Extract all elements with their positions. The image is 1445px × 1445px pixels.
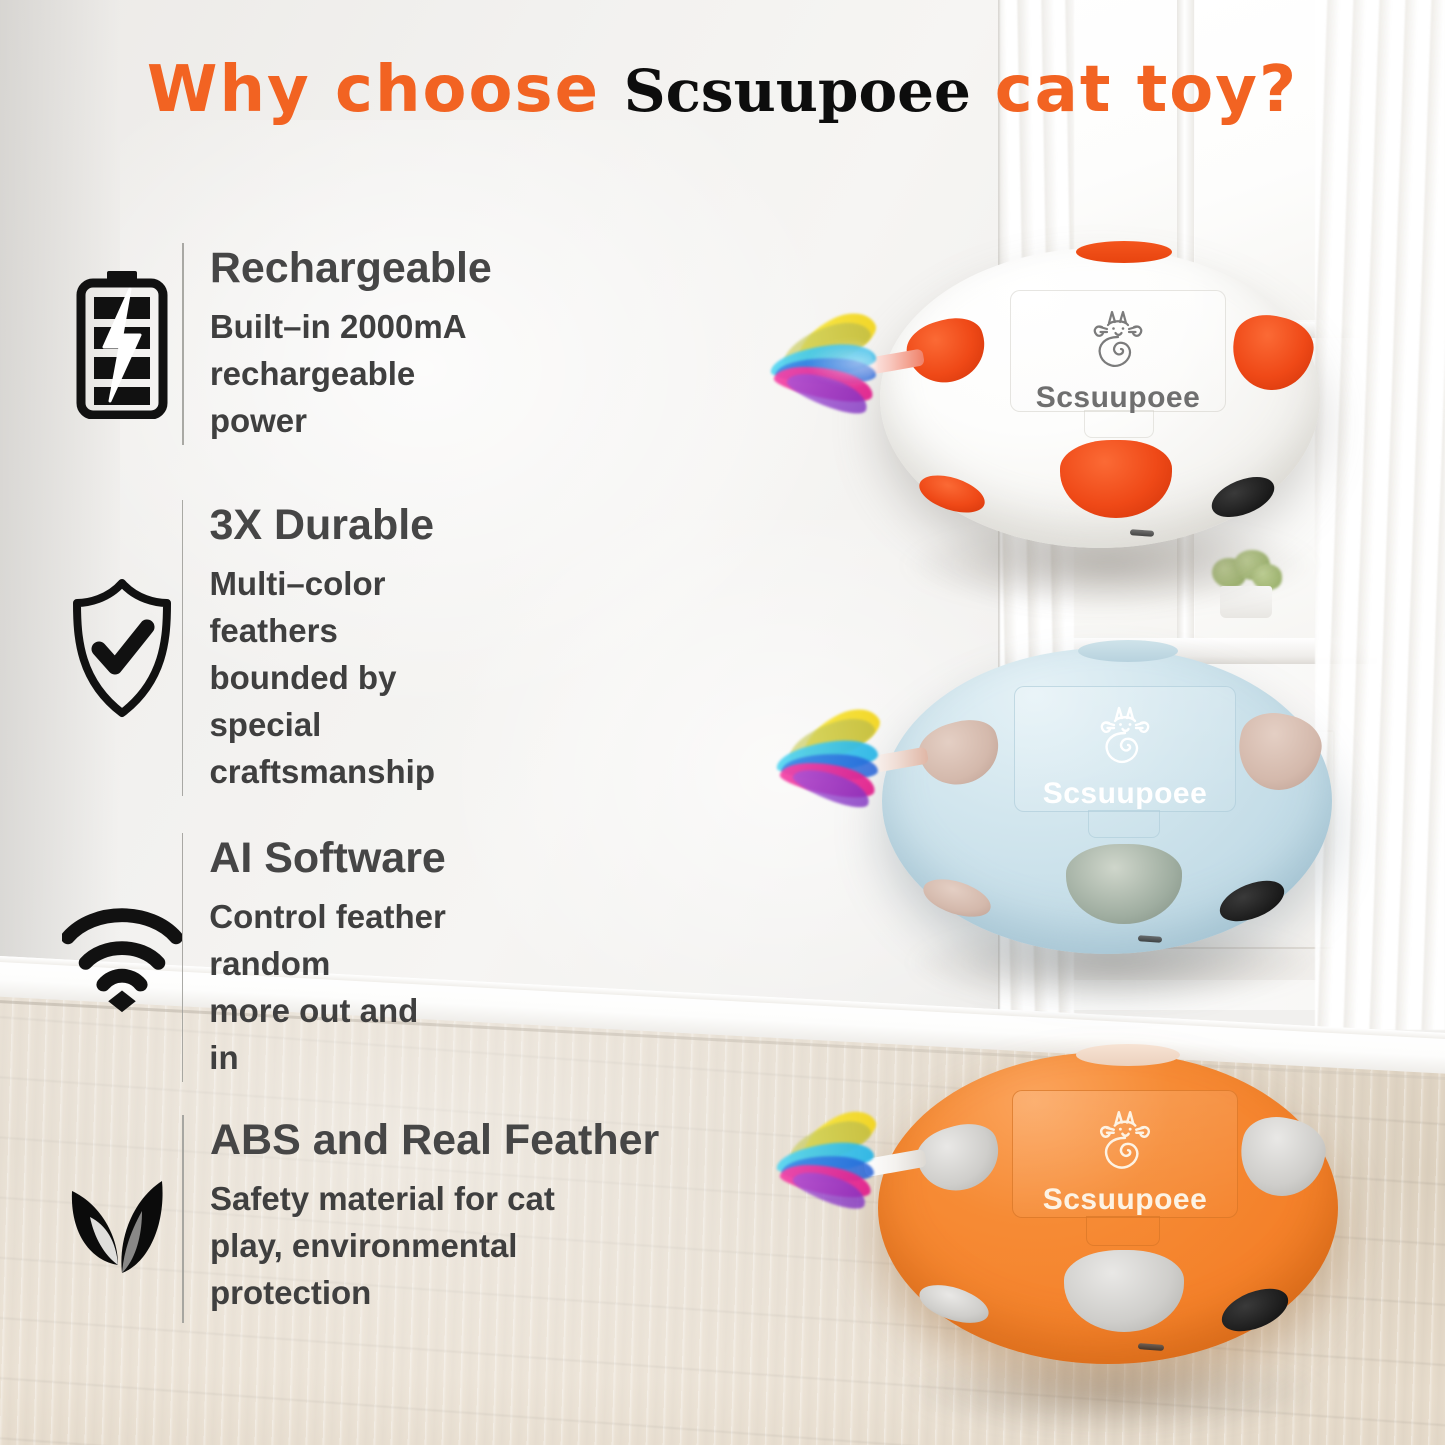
feature-description: Safety material for cat play, environmen…: [210, 1176, 659, 1317]
blue-cat-toy: Scsuupoee: [882, 648, 1332, 968]
infographic-page: Why choose Scsuupoee cat toy? Rechargeab: [0, 0, 1445, 1445]
feature-desc-line: more out and in: [209, 988, 446, 1082]
leaf-sprout-icon: [62, 1177, 182, 1323]
feature-divider: [182, 500, 183, 796]
feature-item-abs-real-feather: ABS and Real Feather Safety material for…: [62, 1115, 659, 1323]
feature-description: Built–in 2000mA rechargeable power: [210, 304, 492, 445]
feature-text-block: 3X Durable Multi–color feathers bounded …: [209, 500, 435, 796]
feature-divider: [182, 243, 184, 445]
feature-item-ai-software: AI Software Control feather random more …: [62, 833, 447, 1082]
feature-title: ABS and Real Feather: [210, 1117, 659, 1164]
white-toy-lid: [1010, 290, 1226, 412]
orange-toy-lid-stem: [1086, 1216, 1160, 1246]
feature-desc-line: Multi–color feathers: [209, 561, 435, 655]
white-toy-feather-wand: [772, 322, 952, 412]
feature-divider: [182, 833, 183, 1082]
feature-desc-line: Control feather random: [209, 894, 446, 988]
blue-toy-lid-stem: [1088, 810, 1160, 838]
feature-desc-line: play, environmental: [210, 1223, 659, 1270]
wifi-signal-icon: [62, 901, 182, 1013]
blue-toy-hole-top: [1078, 640, 1178, 662]
feature-description: Multi–color feathers bounded by special …: [209, 561, 435, 795]
feature-text-block: ABS and Real Feather Safety material for…: [210, 1115, 659, 1317]
feature-divider: [182, 1115, 184, 1323]
feature-title: AI Software: [209, 835, 446, 882]
shield-check-icon: [62, 577, 182, 719]
feature-text-block: AI Software Control feather random more …: [209, 833, 446, 1082]
feature-item-durable: 3X Durable Multi–color feathers bounded …: [62, 500, 436, 796]
feature-desc-line: bounded by special: [209, 655, 435, 749]
feature-desc-line: craftsmanship: [209, 749, 435, 796]
page-title: Why choose Scsuupoee cat toy?: [0, 58, 1445, 122]
feature-title: 3X Durable: [209, 502, 435, 549]
sheer-curtain-outer: [1315, 0, 1445, 1030]
orange-toy-hole-top: [1076, 1044, 1180, 1066]
feature-desc-line: protection: [210, 1270, 659, 1317]
feature-desc-line: rechargeable power: [210, 351, 492, 445]
orange-toy-feather-wand: [774, 1120, 954, 1210]
feature-item-rechargeable: Rechargeable Built–in 2000mA rechargeabl…: [62, 243, 492, 445]
feature-text-block: Rechargeable Built–in 2000mA rechargeabl…: [210, 243, 492, 445]
feature-desc-line: Safety material for cat: [210, 1176, 659, 1223]
white-toy-hole-top: [1076, 241, 1172, 263]
feature-title: Rechargeable: [210, 245, 492, 292]
feature-description: Control feather random more out and in: [209, 894, 446, 1081]
title-part-1: Why choose: [147, 53, 600, 127]
title-part-2: cat toy?: [995, 53, 1298, 127]
white-cat-toy: Scsuupoee: [880, 248, 1320, 558]
blue-toy-lid: [1014, 686, 1236, 812]
blue-toy-feather-wand: [776, 718, 956, 808]
orange-cat-toy: Scsuupoee: [878, 1052, 1338, 1382]
orange-toy-lid: [1012, 1090, 1238, 1218]
white-toy-lid-stem: [1084, 410, 1154, 438]
feature-desc-line: Built–in 2000mA: [210, 304, 492, 351]
battery-charging-icon: [62, 269, 182, 419]
title-brand: Scsuupoee: [618, 57, 977, 125]
